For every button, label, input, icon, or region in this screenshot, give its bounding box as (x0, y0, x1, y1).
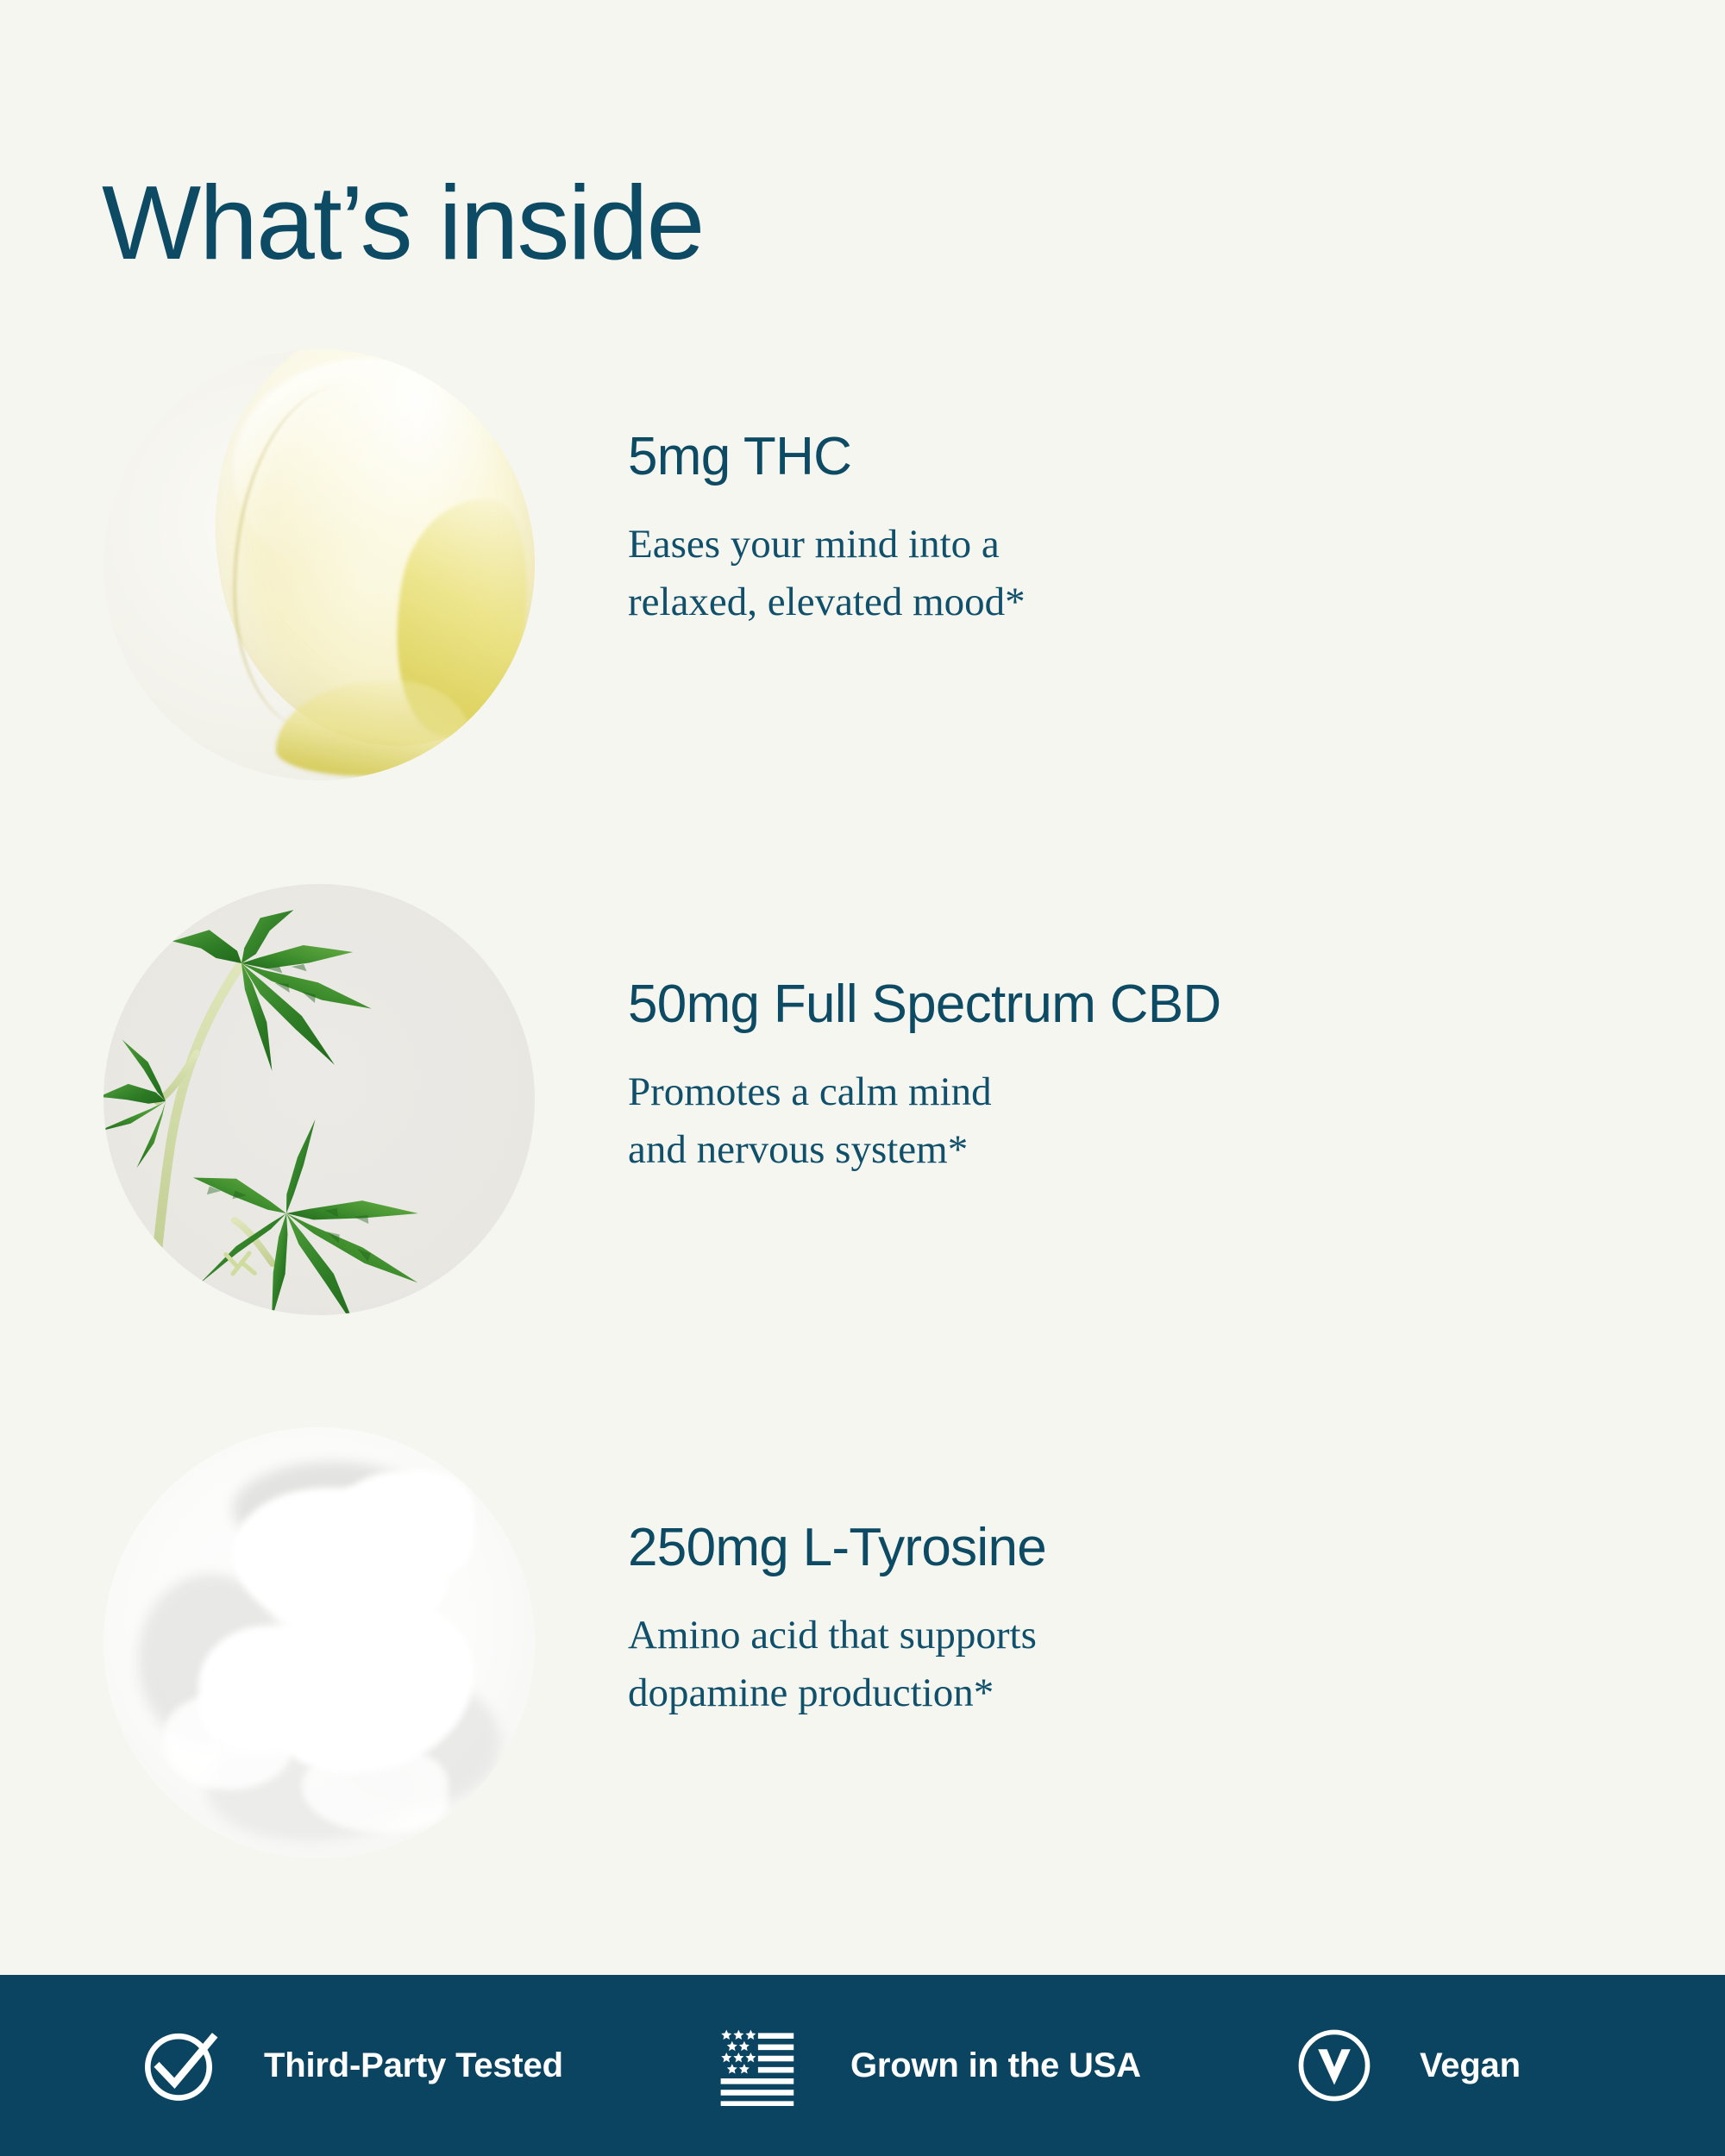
badge-grown-in-usa: Grown in the USA (716, 1975, 1141, 2156)
page-title: What’s inside (102, 167, 703, 278)
white-powder-photo (103, 1427, 535, 1858)
check-circle-icon (138, 2025, 219, 2106)
ingredient-description: Eases your mind into a relaxed, elevated… (628, 516, 1628, 630)
ingredient-row: 250mg L-Tyrosine Amino acid that support… (0, 1427, 1725, 1858)
ingredient-name: 50mg Full Spectrum CBD (628, 975, 1628, 1034)
trust-badge-bar: Third-Party Tested (0, 1975, 1725, 2156)
usa-flag-icon (716, 2025, 797, 2106)
badge-label: Grown in the USA (850, 2046, 1141, 2085)
hemp-leaf-svg (103, 884, 535, 1315)
badge-label: Third-Party Tested (264, 2046, 563, 2085)
badge-vegan: Vegan (1294, 1975, 1521, 2156)
oil-droplet-artwork (103, 349, 535, 780)
badge-third-party-tested: Third-Party Tested (138, 1975, 563, 2156)
vegan-v-circle-icon (1294, 2025, 1375, 2106)
badge-label: Vegan (1420, 2046, 1521, 2085)
ingredient-text-block: 50mg Full Spectrum CBD Promotes a calm m… (628, 975, 1628, 1179)
ingredient-text-block: 250mg L-Tyrosine Amino acid that support… (628, 1518, 1628, 1722)
ingredient-row: 5mg THC Eases your mind into a relaxed, … (0, 349, 1725, 780)
hemp-leaf-artwork (103, 884, 535, 1315)
white-powder-artwork (103, 1427, 535, 1858)
ingredient-description: Promotes a calm mind and nervous system* (628, 1063, 1628, 1178)
whats-inside-panel: What’s inside 5mg THC Eases your mind in… (0, 0, 1725, 2156)
ingredient-text-block: 5mg THC Eases your mind into a relaxed, … (628, 427, 1628, 631)
hemp-leaf-photo (103, 884, 535, 1315)
ingredient-name: 5mg THC (628, 427, 1628, 486)
ingredient-row: 50mg Full Spectrum CBD Promotes a calm m… (0, 884, 1725, 1315)
ingredient-description: Amino acid that supports dopamine produc… (628, 1607, 1628, 1721)
oil-droplet-photo (103, 349, 535, 780)
ingredient-name: 250mg L-Tyrosine (628, 1518, 1628, 1577)
